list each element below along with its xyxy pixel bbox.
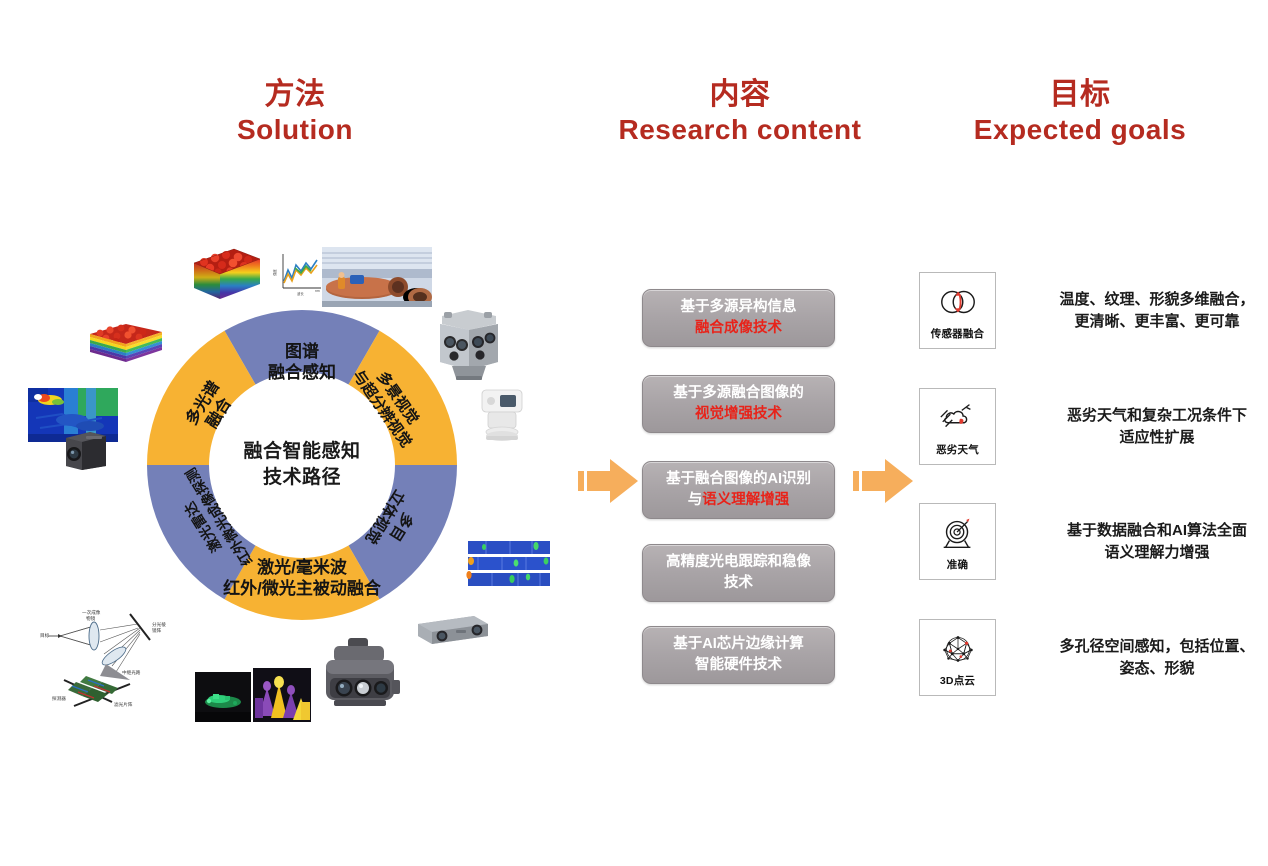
- industrial-pipe-photo-thumbnail: [322, 247, 432, 307]
- goal-description-1: 温度、纹理、形貌多维融合， 更清晰、更丰富、更可靠: [1032, 289, 1268, 333]
- process-box-3-line1: 基于融合图像的AI识别: [666, 471, 811, 487]
- gimbal-turret-thumbnail: [320, 636, 402, 712]
- goal-description-4-line1: 多孔径空间感知，包括位置、: [1059, 638, 1254, 655]
- svg-text:目标: 目标: [40, 632, 50, 639]
- diagram-canvas: 方法 Solution 内容 Research content 目标 Expec…: [0, 0, 1268, 866]
- goal-row-sensor-fusion: 传感器融合 温度、纹理、形貌多维融合， 更清晰、更丰富、更可靠: [919, 272, 1268, 349]
- arrow-right-icon: [578, 455, 640, 507]
- target-accuracy-icon: [937, 513, 979, 553]
- svg-text:滤光片阵: 滤光片阵: [114, 701, 133, 708]
- goal-description-1-line1: 温度、纹理、形貌多维融合，: [1059, 291, 1254, 308]
- goal-card-label-3: 准确: [947, 557, 968, 572]
- process-box-ai-recognition-semantic[interactable]: 基于融合图像的AI识别 与语义理解增强: [642, 461, 835, 519]
- ptz-camera-thumbnail: [476, 386, 528, 444]
- svg-text:中继光路: 中继光路: [122, 669, 141, 676]
- column-header-research-content: 内容 Research content: [580, 78, 900, 145]
- segment-label-top-line1: 图谱: [285, 341, 319, 361]
- svg-text:nm: nm: [315, 289, 320, 293]
- process-box-5-line2: 智能硬件技术: [673, 655, 804, 676]
- process-box-1-line2-highlight: 融合成像技术: [695, 320, 782, 336]
- spectral-curve-plot-thumbnail: 强度 波长 nm: [271, 248, 325, 300]
- goal-description-1-line2: 更清晰、更丰富、更可靠: [1032, 311, 1268, 333]
- goal-description-2: 恶劣天气和复杂工况条件下 适应性扩展: [1032, 405, 1268, 449]
- segment-label-top-line2: 融合感知: [268, 362, 336, 382]
- header-content-cn: 内容: [580, 78, 900, 112]
- goal-description-2-line2: 适应性扩展: [1032, 427, 1268, 449]
- camera-module-thumbnail: [60, 426, 112, 474]
- goal-card-severe-weather[interactable]: 恶劣天气: [919, 388, 996, 465]
- process-box-ai-chip-edge-computing[interactable]: 基于AI芯片边缘计算 智能硬件技术: [642, 626, 835, 684]
- arrow-content-to-goals: [853, 455, 915, 512]
- column-header-solution: 方法 Solution: [175, 78, 415, 145]
- svg-text:物镜: 物镜: [86, 615, 96, 622]
- technology-path-wheel: 图谱 融合感知 多景视觉 与超分辨视觉 多目 立体视觉 激光/毫米波 红外/微光…: [142, 305, 462, 625]
- goal-description-3-line2: 语义理解力增强: [1032, 542, 1268, 564]
- process-box-visual-enhancement-tech[interactable]: 基于多源融合图像的 视觉增强技术: [642, 375, 835, 433]
- process-box-4-line1: 高精度光电跟踪和稳像: [666, 554, 811, 570]
- svg-text:探测器: 探测器: [52, 695, 66, 702]
- svg-text:波长: 波长: [297, 291, 304, 296]
- goal-card-label-4: 3D点云: [940, 673, 975, 688]
- process-box-2-line1: 基于多源融合图像的: [673, 385, 804, 401]
- goal-row-severe-weather: 恶劣天气 恶劣天气和复杂工况条件下 适应性扩展: [919, 388, 1268, 465]
- depth-scan-visualization-thumbnail: [466, 535, 552, 593]
- svg-text:镜阵: 镜阵: [152, 627, 162, 634]
- point-cloud-icon: [937, 629, 979, 669]
- svg-text:强度: 强度: [272, 269, 277, 276]
- column-header-expected-goals: 目标 Expected goals: [930, 78, 1230, 145]
- goal-card-sensor-fusion[interactable]: 传感器融合: [919, 272, 996, 349]
- arrow-right-icon: [853, 455, 915, 507]
- goal-description-4-line2: 姿态、形貌: [1032, 658, 1268, 680]
- process-box-3-line2-plain: 与: [688, 492, 703, 508]
- process-box-optoelectronic-tracking[interactable]: 高精度光电跟踪和稳像 技术: [642, 544, 835, 602]
- wheel-center-line1: 融合智能感知: [212, 439, 392, 465]
- goal-description-3: 基于数据融合和AI算法全面 语义理解力增强: [1032, 520, 1268, 564]
- header-solution-cn: 方法: [175, 78, 415, 112]
- wheel-center-line2: 技术路径: [212, 465, 392, 491]
- segment-label-bottom-line1: 激光/毫米波: [257, 557, 348, 577]
- venn-fusion-icon: [937, 282, 979, 322]
- wheel-center-title: 融合智能感知 技术路径: [212, 439, 392, 491]
- goal-description-3-line1: 基于数据融合和AI算法全面: [1067, 522, 1247, 539]
- goal-row-point-cloud: 3D点云 多孔径空间感知，包括位置、 姿态、形貌: [919, 619, 1268, 696]
- header-solution-en: Solution: [175, 114, 415, 145]
- process-box-fusion-imaging-tech[interactable]: 基于多源异构信息 融合成像技术: [642, 289, 835, 347]
- process-box-5-line1: 基于AI芯片边缘计算: [673, 636, 804, 652]
- process-box-1-line1: 基于多源异构信息: [681, 299, 797, 315]
- goal-card-accuracy[interactable]: 准确: [919, 503, 996, 580]
- header-content-en: Research content: [580, 114, 900, 145]
- goal-card-label-2: 恶劣天气: [936, 442, 979, 457]
- night-vision-scene-thumbnail: [195, 672, 251, 722]
- header-goals-en: Expected goals: [930, 114, 1230, 145]
- hyperspectral-cube-thumbnail: [188, 243, 262, 305]
- svg-text:一次成像: 一次成像: [82, 609, 101, 616]
- process-box-4-line2: 技术: [666, 573, 811, 594]
- process-box-3-line2-highlight: 语义理解增强: [702, 492, 789, 508]
- goal-card-label-1: 传感器融合: [931, 326, 985, 341]
- goal-card-point-cloud[interactable]: 3D点云: [919, 619, 996, 696]
- goal-description-4: 多孔径空间感知，包括位置、 姿态、形貌: [1032, 636, 1268, 680]
- header-goals-cn: 目标: [930, 78, 1230, 112]
- severe-weather-icon: [937, 398, 979, 438]
- low-light-fusion-scene-thumbnail: [253, 668, 311, 722]
- goal-description-2-line1: 恶劣天气和复杂工况条件下: [1067, 407, 1247, 424]
- arrow-solution-to-content: [578, 455, 640, 512]
- process-box-2-line2-highlight: 视觉增强技术: [695, 406, 782, 422]
- segment-label-bottom-line2: 红外/微光主被动融合: [223, 578, 382, 598]
- goal-row-accuracy: 准确 基于数据融合和AI算法全面 语义理解力增强: [919, 503, 1268, 580]
